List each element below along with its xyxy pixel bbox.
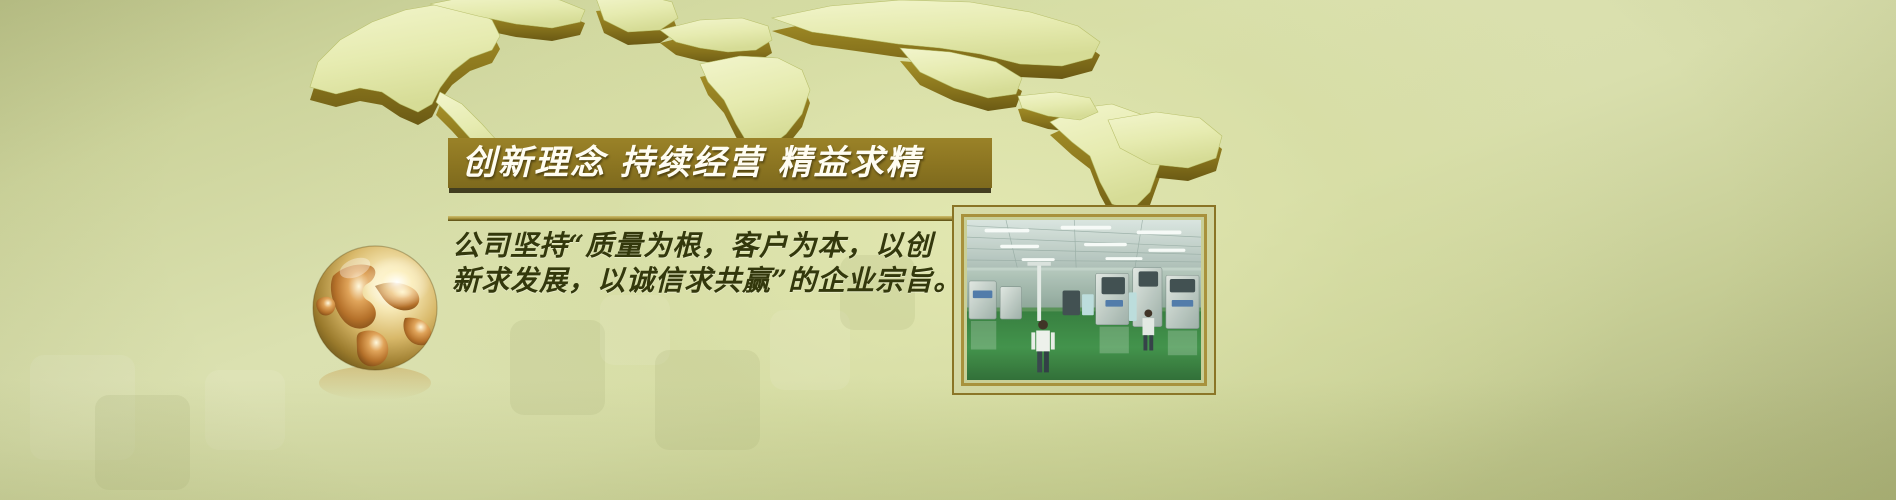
- decorative-square: [205, 370, 285, 450]
- world-map-graphic: [0, 0, 1896, 222]
- globe-icon: [305, 240, 455, 405]
- decorative-square: [655, 350, 760, 450]
- decorative-square: [770, 310, 850, 390]
- decorative-square: [95, 395, 190, 490]
- decorative-square: [510, 320, 605, 415]
- headline-banner-bar: 创新理念 持续经营 精益求精: [448, 138, 992, 188]
- headline-divider-rule: [448, 216, 1016, 221]
- factory-workshop-photo: [967, 220, 1201, 380]
- photo-frame-inner-border: [961, 214, 1207, 386]
- subtitle-line-2: 新求发展，以诚信求共赢”的企业宗旨。: [452, 263, 972, 298]
- subtitle-line-1: 公司坚持“质量为根，客户为本，以创: [452, 228, 972, 263]
- company-culture-banner: 创新理念 持续经营 精益求精 公司坚持“质量为根，客户为本，以创 新求发展，以诚…: [0, 0, 1896, 500]
- decorative-square: [30, 355, 135, 460]
- subtitle-block: 公司坚持“质量为根，客户为本，以创 新求发展，以诚信求共赢”的企业宗旨。: [452, 228, 972, 298]
- photo-frame: [952, 205, 1216, 395]
- headline-text: 创新理念 持续经营 精益求精: [462, 146, 922, 180]
- bottom-fade-overlay: [0, 380, 1896, 500]
- decorative-square: [600, 295, 670, 365]
